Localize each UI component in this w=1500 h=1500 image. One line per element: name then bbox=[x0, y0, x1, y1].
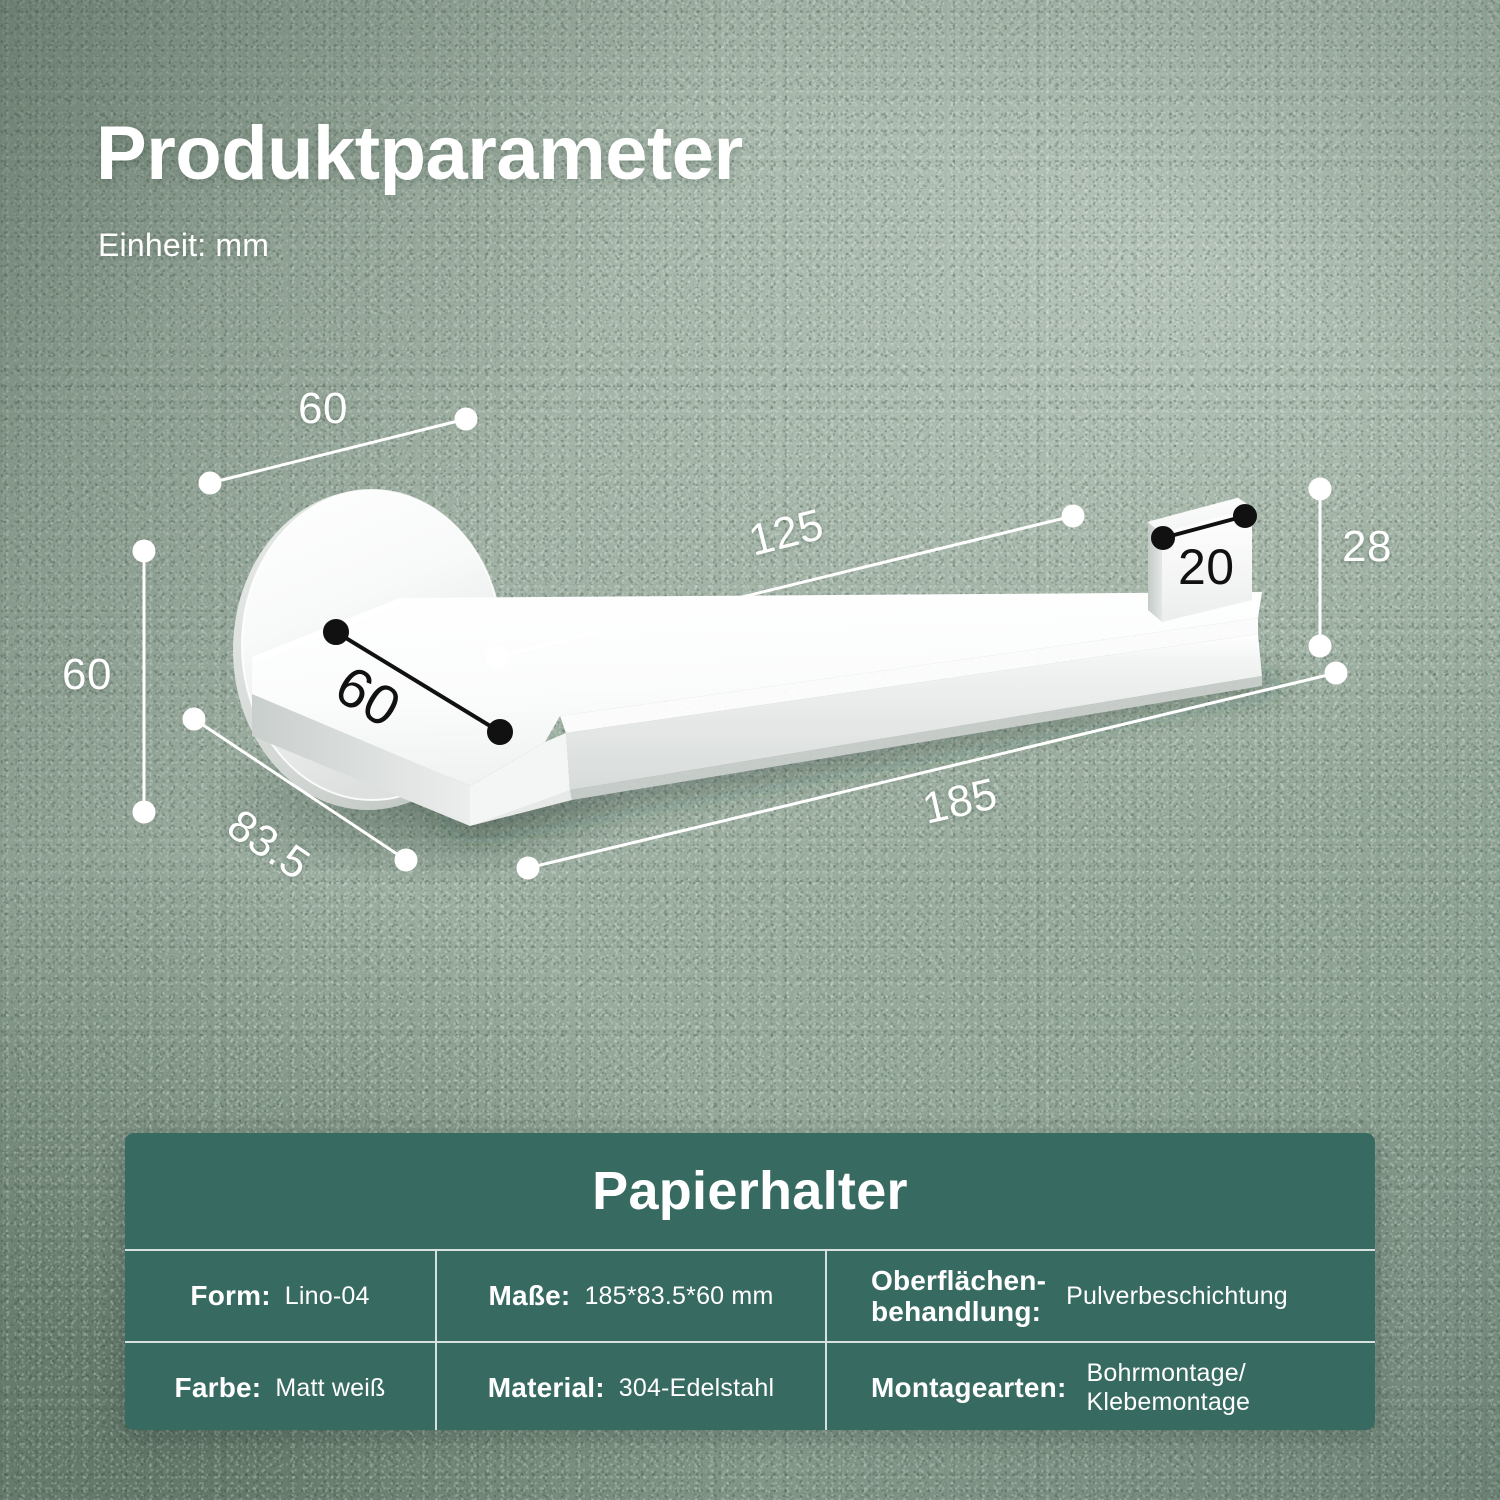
dimension-label-base-depth: 83.5 bbox=[218, 800, 319, 890]
spec-key: Form: bbox=[190, 1280, 270, 1311]
table-row: Farbe: Matt weiß Material: 304-Edelstahl… bbox=[125, 1341, 1375, 1430]
spec-key: Material: bbox=[488, 1372, 605, 1403]
dimension-label-top-depth: 60 bbox=[298, 384, 348, 434]
dimension-label-endcap-height: 28 bbox=[1342, 522, 1392, 572]
spec-value: Matt weiß bbox=[275, 1374, 385, 1403]
spec-key: Oberflächen- behandlung: bbox=[871, 1265, 1046, 1328]
spec-key: Farbe: bbox=[175, 1372, 262, 1403]
spec-cell-montagearten: Montagearten: Bohrmontage/ Klebemontage bbox=[825, 1343, 1371, 1430]
dimension-label-left-height: 60 bbox=[62, 650, 112, 700]
spec-cell-oberflaechenbehandlung: Oberflächen- behandlung: Pulverbeschicht… bbox=[825, 1251, 1371, 1341]
dimension-labels: 60 60 83.5 125 60 20 28 185 bbox=[0, 0, 1500, 1140]
dimension-label-arm-length: 125 bbox=[744, 500, 829, 567]
spec-cell-farbe: Farbe: Matt weiß bbox=[125, 1343, 435, 1430]
spec-key: Montagearten: bbox=[871, 1372, 1067, 1403]
spec-value: Pulverbeschichtung bbox=[1066, 1282, 1288, 1311]
product-name: Papierhalter bbox=[592, 1160, 908, 1222]
spec-table-body: Form: Lino-04 Maße: 185*83.5*60 mm Oberf… bbox=[125, 1249, 1375, 1430]
dimension-label-endcap-width: 20 bbox=[1178, 538, 1235, 596]
product-illustration: 60 60 83.5 125 60 20 28 185 bbox=[0, 0, 1500, 1140]
specification-table: Papierhalter Form: Lino-04 Maße: 185*83.… bbox=[125, 1133, 1375, 1430]
spec-cell-form: Form: Lino-04 bbox=[125, 1251, 435, 1341]
spec-cell-masse: Maße: 185*83.5*60 mm bbox=[435, 1251, 825, 1341]
spec-value: 185*83.5*60 mm bbox=[584, 1282, 773, 1311]
dimension-label-plate-width: 60 bbox=[325, 652, 413, 740]
product-spec-image: Produktparameter Einheit: mm bbox=[0, 0, 1500, 1500]
spec-value: 304-Edelstahl bbox=[619, 1374, 774, 1403]
spec-value: Lino-04 bbox=[285, 1282, 370, 1311]
spec-key: Maße: bbox=[489, 1280, 571, 1311]
table-row: Form: Lino-04 Maße: 185*83.5*60 mm Oberf… bbox=[125, 1251, 1375, 1341]
dimension-label-total-length: 185 bbox=[918, 769, 1002, 835]
spec-value: Bohrmontage/ Klebemontage bbox=[1087, 1359, 1251, 1417]
spec-cell-material: Material: 304-Edelstahl bbox=[435, 1343, 825, 1430]
spec-table-header: Papierhalter bbox=[125, 1133, 1375, 1249]
